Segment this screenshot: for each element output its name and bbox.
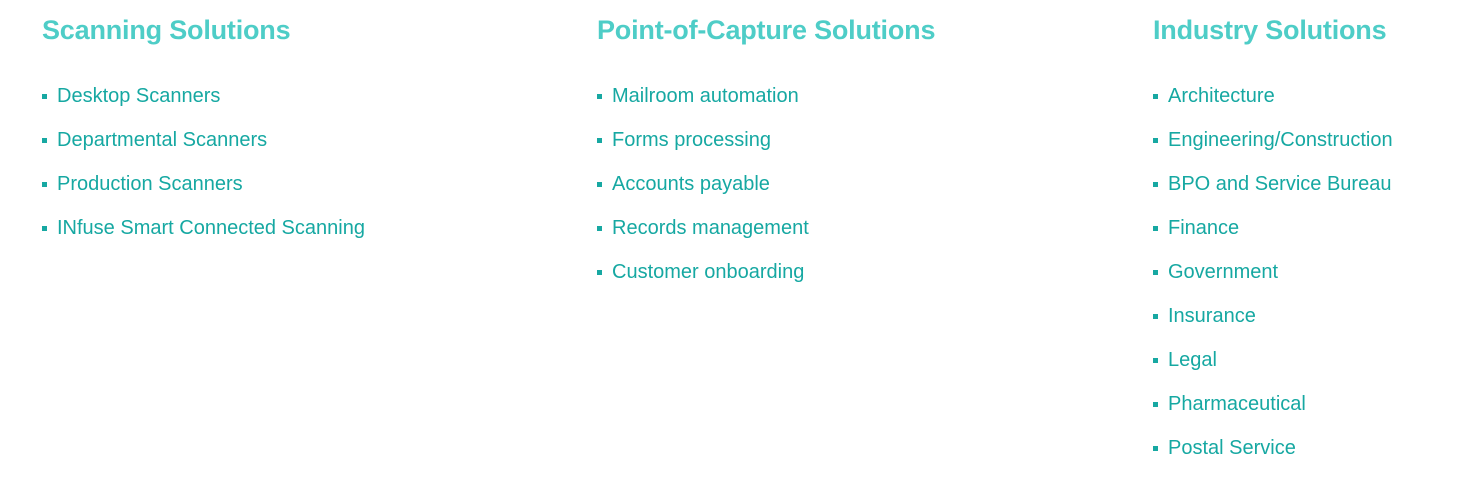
list-item-label: INfuse Smart Connected Scanning [57, 214, 365, 242]
list-item[interactable]: Mailroom automation [597, 82, 1117, 126]
list-item[interactable]: Architecture [1153, 82, 1453, 126]
solution-list-industry: Architecture Engineering/Construction BP… [1153, 82, 1453, 478]
square-bullet-icon [1153, 270, 1158, 275]
column-heading-point-of-capture-solutions: Point-of-Capture Solutions [597, 13, 935, 47]
square-bullet-icon [1153, 138, 1158, 143]
list-item-label: Government [1168, 258, 1278, 286]
list-item-label: Architecture [1168, 82, 1275, 110]
list-item-label: Finance [1168, 214, 1239, 242]
square-bullet-icon [1153, 226, 1158, 231]
list-item[interactable]: Production Scanners [42, 170, 562, 214]
column-heading-industry-solutions: Industry Solutions [1153, 13, 1386, 47]
square-bullet-icon [1153, 94, 1158, 99]
list-item-label: Legal [1168, 346, 1217, 374]
square-bullet-icon [597, 226, 602, 231]
square-bullet-icon [1153, 358, 1158, 363]
square-bullet-icon [1153, 182, 1158, 187]
square-bullet-icon [1153, 446, 1158, 451]
list-item[interactable]: Accounts payable [597, 170, 1117, 214]
column-heading-scanning-solutions: Scanning Solutions [42, 13, 290, 47]
square-bullet-icon [1153, 402, 1158, 407]
list-item-label: Forms processing [612, 126, 771, 154]
square-bullet-icon [42, 138, 47, 143]
list-item-label: Insurance [1168, 302, 1256, 330]
list-item[interactable]: Legal [1153, 346, 1453, 390]
list-item-label: Departmental Scanners [57, 126, 267, 154]
solution-list-scanning: Desktop Scanners Departmental Scanners P… [42, 82, 562, 258]
list-item[interactable]: Forms processing [597, 126, 1117, 170]
list-item-label: Customer onboarding [612, 258, 804, 286]
list-item[interactable]: Pharmaceutical [1153, 390, 1453, 434]
list-item[interactable]: Desktop Scanners [42, 82, 562, 126]
list-item[interactable]: Postal Service [1153, 434, 1453, 478]
square-bullet-icon [42, 94, 47, 99]
list-item-label: Production Scanners [57, 170, 243, 198]
list-item[interactable]: Engineering/Construction [1153, 126, 1453, 170]
list-item[interactable]: Departmental Scanners [42, 126, 562, 170]
list-item-label: Records management [612, 214, 809, 242]
list-item-label: Pharmaceutical [1168, 390, 1306, 418]
square-bullet-icon [597, 270, 602, 275]
list-item[interactable]: Finance [1153, 214, 1453, 258]
square-bullet-icon [597, 138, 602, 143]
square-bullet-icon [42, 182, 47, 187]
solutions-columns-section: Scanning Solutions Desktop Scanners Depa… [0, 0, 1463, 499]
list-item[interactable]: Customer onboarding [597, 258, 1117, 302]
square-bullet-icon [1153, 314, 1158, 319]
list-item[interactable]: BPO and Service Bureau [1153, 170, 1453, 214]
list-item-label: Engineering/Construction [1168, 126, 1393, 154]
list-item-label: Mailroom automation [612, 82, 799, 110]
list-item-label: Postal Service [1168, 434, 1296, 462]
list-item-label: BPO and Service Bureau [1168, 170, 1391, 198]
list-item[interactable]: INfuse Smart Connected Scanning [42, 214, 562, 258]
list-item-label: Accounts payable [612, 170, 770, 198]
list-item-label: Desktop Scanners [57, 82, 220, 110]
list-item[interactable]: Records management [597, 214, 1117, 258]
list-item[interactable]: Insurance [1153, 302, 1453, 346]
square-bullet-icon [42, 226, 47, 231]
square-bullet-icon [597, 182, 602, 187]
solution-list-point-of-capture: Mailroom automation Forms processing Acc… [597, 82, 1117, 302]
list-item[interactable]: Government [1153, 258, 1453, 302]
square-bullet-icon [597, 94, 602, 99]
